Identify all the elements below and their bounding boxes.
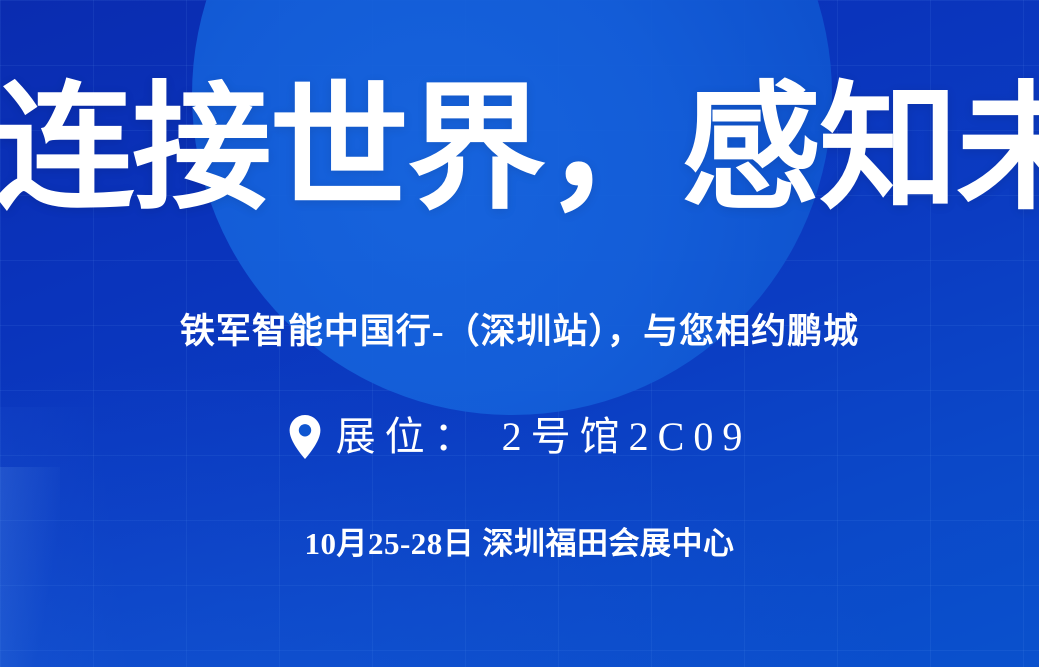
promo-banner: 连接世界，感知未来 铁军智能中国行-（深圳站），与您相约鹏城 展位： 2号馆2C… [0, 0, 1039, 667]
headline: 连接世界，感知未来 [0, 74, 1039, 224]
location-pin-icon [288, 415, 322, 459]
booth-text: 展位： 2号馆2C09 [336, 412, 752, 462]
subtitle: 铁军智能中国行-（深圳站），与您相约鹏城 [0, 308, 1039, 356]
banner-content: 连接世界，感知未来 铁军智能中国行-（深圳站），与您相约鹏城 展位： 2号馆2C… [0, 0, 1039, 667]
date-venue-text: 10月25-28日 深圳福田会展中心 [0, 522, 1039, 566]
booth-row: 展位： 2号馆2C09 [0, 412, 1039, 462]
